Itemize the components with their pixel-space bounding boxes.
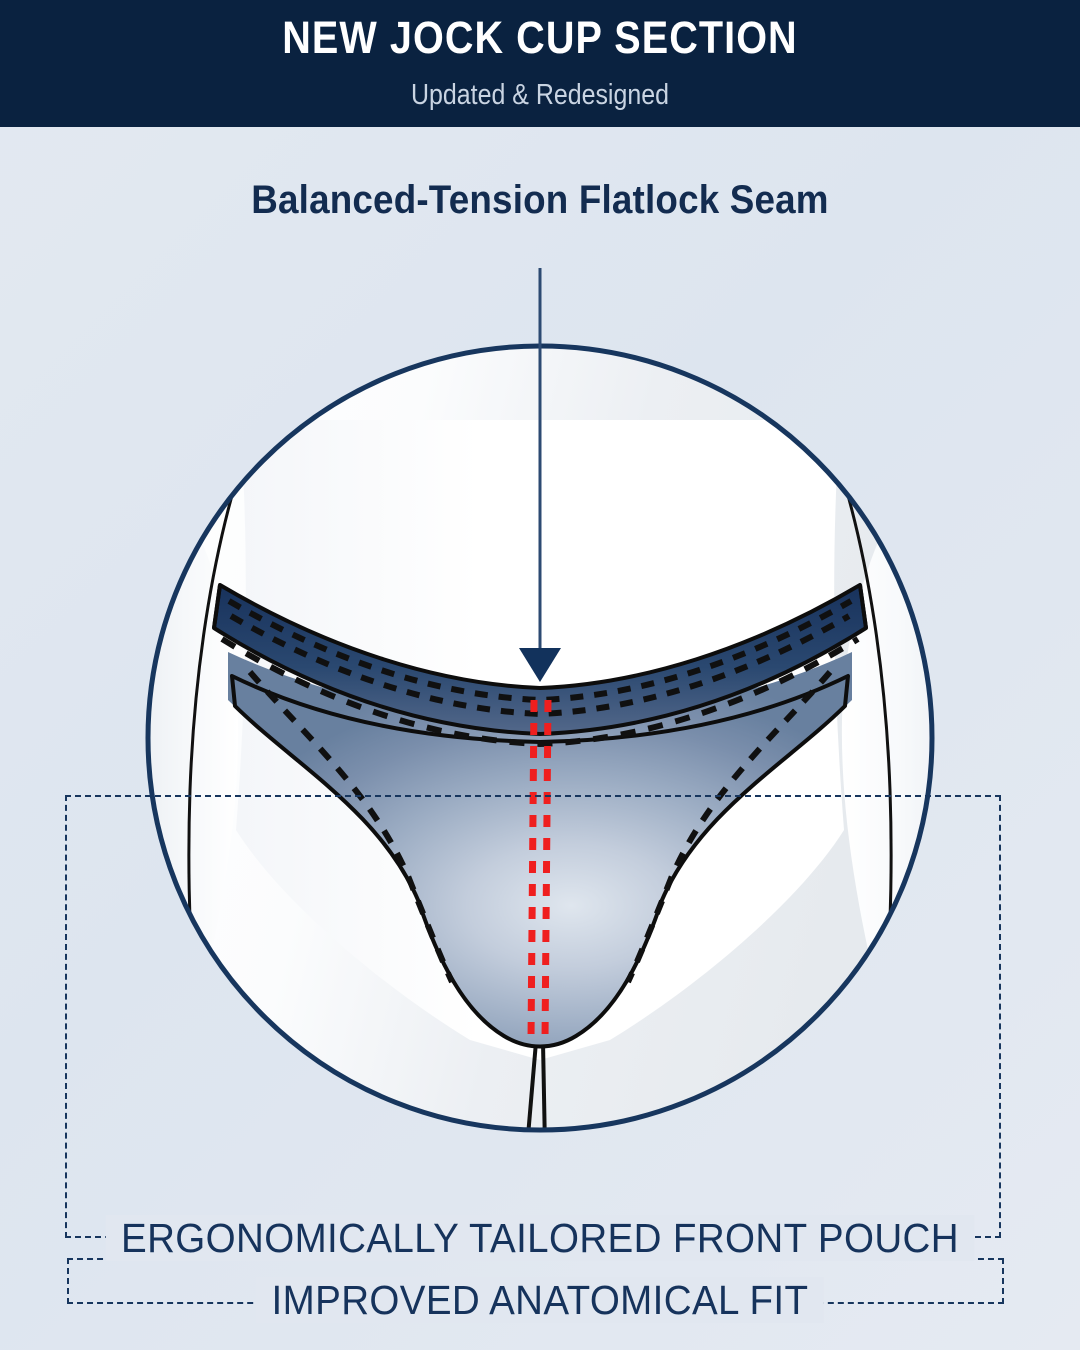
callout-label-anatomical-fit: IMPROVED ANATOMICAL FIT	[32, 1276, 1047, 1324]
page-subtitle: Updated & Redesigned	[76, 78, 1005, 112]
callout-label-front-pouch: ERGONOMICALLY TAILORED FRONT POUCH	[32, 1214, 1047, 1262]
section-heading: Balanced-Tension Flatlock Seam	[43, 176, 1037, 224]
page-root: NEW JOCK CUP SECTION Updated & Redesigne…	[0, 0, 1080, 1350]
callout-label-anatomical-fit-text: IMPROVED ANATOMICAL FIT	[257, 1277, 824, 1323]
page-title: NEW JOCK CUP SECTION	[65, 12, 1015, 64]
callout-label-front-pouch-text: ERGONOMICALLY TAILORED FRONT POUCH	[106, 1215, 974, 1261]
callout-box-front-pouch	[65, 795, 1001, 1238]
header-banner: NEW JOCK CUP SECTION Updated & Redesigne…	[0, 0, 1080, 127]
